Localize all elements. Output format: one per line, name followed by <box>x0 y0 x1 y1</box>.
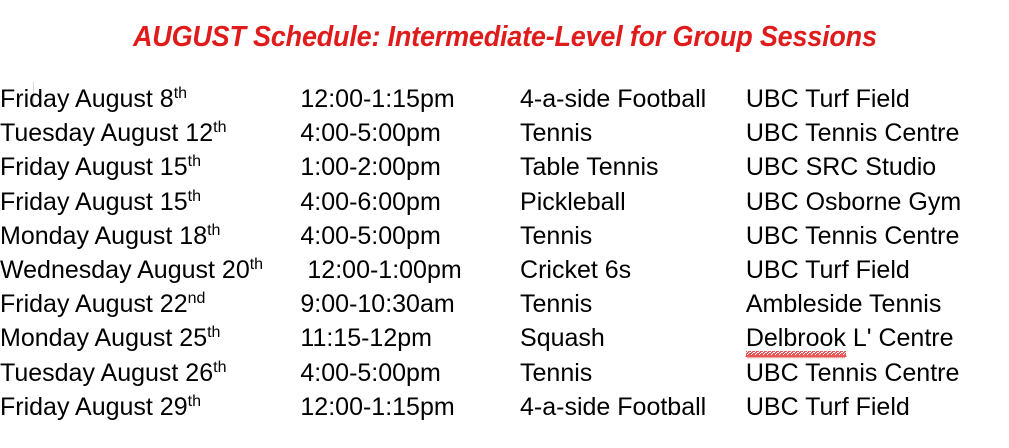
schedule-time-text: 4:00-5:00pm <box>300 356 440 390</box>
date-ordinal-suffix: th <box>174 85 187 102</box>
schedule-venue-text: UBC Osborne Gym <box>746 188 961 216</box>
schedule-date-text: Tuesday August 26 <box>0 359 213 387</box>
date-ordinal-suffix: th <box>250 256 263 273</box>
schedule-venue-text: UBC Turf Field <box>746 256 910 284</box>
schedule-activity-cell: Tennis <box>520 219 746 253</box>
schedule-table: Friday August 8th12:00-1:15pm4-a-side Fo… <box>0 82 1009 424</box>
schedule-venue-text: L' Centre <box>846 324 954 352</box>
date-ordinal-suffix: th <box>213 359 226 376</box>
schedule-venue-text: UBC Turf Field <box>746 85 910 113</box>
schedule-activity-cell: Table Tennis <box>520 150 746 184</box>
schedule-date-text: Monday August 25 <box>0 324 207 352</box>
schedule-activity-text: 4-a-side Football <box>520 393 706 421</box>
table-row: Wednesday August 20th12:00-1:00pmCricket… <box>0 253 1009 287</box>
schedule-date-text: Friday August 29 <box>0 393 188 421</box>
title-row: AUGUST Schedule: Intermediate-Level for … <box>0 20 1009 54</box>
schedule-activity-cell: Squash <box>520 321 746 355</box>
date-ordinal-suffix: th <box>188 393 201 410</box>
schedule-venue-text: UBC SRC Studio <box>746 153 936 181</box>
date-ordinal-suffix: th <box>213 119 226 136</box>
schedule-activity-text: Tennis <box>520 359 592 387</box>
schedule-activity-text: Tennis <box>520 290 592 318</box>
schedule-venue-text: UBC Tennis Centre <box>746 359 960 387</box>
schedule-time-cell: 11:15-12pm <box>300 321 520 355</box>
schedule-table-body: Friday August 8th12:00-1:15pm4-a-side Fo… <box>0 82 1009 424</box>
table-row: Monday August 18th4:00-5:00pmTennisUBC T… <box>0 219 1009 253</box>
date-ordinal-suffix: nd <box>188 290 206 307</box>
schedule-date-cell: Friday August 22nd <box>0 287 300 321</box>
schedule-time-cell: 4:00-5:00pm <box>300 219 520 253</box>
schedule-date-cell: Wednesday August 20th <box>0 253 300 287</box>
schedule-time-text: 12:00-1:00pm <box>300 253 461 287</box>
schedule-date-text: Friday August 15 <box>0 188 188 216</box>
schedule-time-cell: 4:00-6:00pm <box>300 185 520 219</box>
table-row: Friday August 8th12:00-1:15pm4-a-side Fo… <box>0 82 1009 116</box>
schedule-time-cell: 4:00-5:00pm <box>300 356 520 390</box>
schedule-date-text: Friday August 15 <box>0 153 188 181</box>
schedule-activity-text: Pickleball <box>520 188 626 216</box>
schedule-venue-cell: UBC Tennis Centre <box>746 116 1009 150</box>
schedule-activity-text: Cricket 6s <box>520 256 631 284</box>
schedule-activity-cell: Tennis <box>520 356 746 390</box>
schedule-activity-cell: Tennis <box>520 116 746 150</box>
schedule-time-cell: 12:00-1:15pm <box>300 390 520 424</box>
schedule-date-text: Friday August 8 <box>0 85 174 113</box>
schedule-time-cell: 12:00-1:00pm <box>300 253 520 287</box>
schedule-activity-cell: Tennis <box>520 287 746 321</box>
page-title: AUGUST Schedule: Intermediate-Level for … <box>133 20 877 54</box>
schedule-time-text: 4:00-6:00pm <box>300 185 440 219</box>
schedule-activity-text: 4-a-side Football <box>520 85 706 113</box>
schedule-date-cell: Monday August 18th <box>0 219 300 253</box>
schedule-activity-text: Tennis <box>520 222 592 250</box>
schedule-venue-text: UBC Tennis Centre <box>746 119 960 147</box>
schedule-venue-cell: Delbrook L' Centre <box>746 321 1009 355</box>
schedule-date-cell: Friday August 29th <box>0 390 300 424</box>
schedule-activity-cell: 4-a-side Football <box>520 82 746 116</box>
document-page: AUGUST Schedule: Intermediate-Level for … <box>0 0 1009 448</box>
table-row: Tuesday August 26th4:00-5:00pmTennisUBC … <box>0 356 1009 390</box>
table-row: Tuesday August 12th4:00-5:00pmTennisUBC … <box>0 116 1009 150</box>
schedule-venue-cell: UBC Turf Field <box>746 390 1009 424</box>
schedule-venue-cell: UBC Tennis Centre <box>746 356 1009 390</box>
schedule-venue-text: UBC Turf Field <box>746 393 910 421</box>
schedule-activity-cell: 4-a-side Football <box>520 390 746 424</box>
spellcheck-misspelled-word[interactable]: Delbrook <box>746 321 846 355</box>
table-row: Friday August 29th12:00-1:15pm4-a-side F… <box>0 390 1009 424</box>
schedule-date-text: Monday August 18 <box>0 222 207 250</box>
schedule-activity-cell: Pickleball <box>520 185 746 219</box>
schedule-venue-cell: UBC SRC Studio <box>746 150 1009 184</box>
schedule-venue-cell: UBC Turf Field <box>746 82 1009 116</box>
schedule-time-text: 11:15-12pm <box>300 321 432 355</box>
schedule-date-cell: Tuesday August 26th <box>0 356 300 390</box>
schedule-venue-cell: UBC Tennis Centre <box>746 219 1009 253</box>
schedule-time-cell: 4:00-5:00pm <box>300 116 520 150</box>
schedule-time-cell: 12:00-1:15pm <box>300 82 520 116</box>
schedule-date-cell: Monday August 25th <box>0 321 300 355</box>
schedule-date-text: Friday August 22 <box>0 290 188 318</box>
spellcheck-squiggle-icon <box>746 353 846 358</box>
schedule-date-cell: Tuesday August 12th <box>0 116 300 150</box>
table-row: Monday August 25th11:15-12pmSquashDelbro… <box>0 321 1009 355</box>
schedule-date-cell: Friday August 8th <box>0 82 300 116</box>
schedule-activity-cell: Cricket 6s <box>520 253 746 287</box>
schedule-date-cell: Friday August 15th <box>0 150 300 184</box>
schedule-activity-text: Squash <box>520 324 605 352</box>
schedule-date-cell: Friday August 15th <box>0 185 300 219</box>
date-ordinal-suffix: th <box>188 188 201 205</box>
schedule-date-text: Wednesday August 20 <box>0 256 250 284</box>
schedule-activity-text: Tennis <box>520 119 592 147</box>
schedule-time-cell: 1:00-2:00pm <box>300 150 520 184</box>
date-ordinal-suffix: th <box>207 222 220 239</box>
table-row: Friday August 15th1:00-2:00pmTable Tenni… <box>0 150 1009 184</box>
schedule-time-text: 4:00-5:00pm <box>300 116 440 150</box>
schedule-time-text: 9:00-10:30am <box>300 287 454 321</box>
schedule-activity-text: Table Tennis <box>520 153 659 181</box>
schedule-time-text: 1:00-2:00pm <box>300 150 440 184</box>
schedule-venue-text: UBC Tennis Centre <box>746 222 960 250</box>
schedule-time-text: 12:00-1:15pm <box>300 390 454 424</box>
schedule-time-cell: 9:00-10:30am <box>300 287 520 321</box>
schedule-time-text: 4:00-5:00pm <box>300 219 440 253</box>
schedule-date-text: Tuesday August 12 <box>0 119 213 147</box>
schedule-time-text: 12:00-1:15pm <box>300 82 454 116</box>
date-ordinal-suffix: th <box>188 153 201 170</box>
table-row: Friday August 15th4:00-6:00pmPickleballU… <box>0 185 1009 219</box>
schedule-venue-cell: UBC Turf Field <box>746 253 1009 287</box>
schedule-venue-cell: Ambleside Tennis <box>746 287 1009 321</box>
date-ordinal-suffix: th <box>207 324 220 341</box>
schedule-venue-text: Ambleside Tennis <box>746 290 941 318</box>
table-row: Friday August 22nd9:00-10:30amTennisAmbl… <box>0 287 1009 321</box>
schedule-venue-cell: UBC Osborne Gym <box>746 185 1009 219</box>
